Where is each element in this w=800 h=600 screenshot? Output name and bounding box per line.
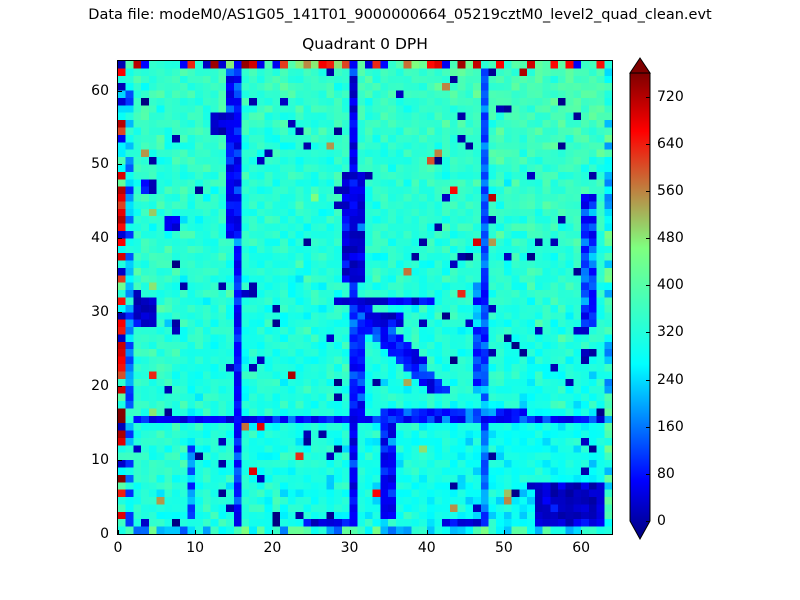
x-tick-mark: [427, 530, 428, 534]
y-tick-label: 20: [69, 378, 109, 394]
x-tick-label: 20: [263, 540, 281, 556]
heatmap-axes: [117, 60, 613, 535]
y-tick-mark: [118, 164, 122, 165]
colorbar-tick-label: 160: [657, 419, 684, 435]
colorbar-tick-label: 400: [657, 277, 684, 293]
colorbar-tick-label: 0: [657, 513, 666, 529]
heatmap-image: [118, 61, 612, 534]
y-tick-label: 40: [69, 230, 109, 246]
y-tick-label: 30: [69, 304, 109, 320]
y-tick-mark: [118, 534, 122, 535]
y-tick-mark: [118, 238, 122, 239]
x-tick-mark: [581, 530, 582, 534]
colorbar: 080160240320400480560640720: [629, 57, 651, 540]
matplotlib-figure: Data file: modeM0/AS1G05_141T01_90000006…: [0, 0, 800, 600]
colorbar-tick-mark: [646, 427, 650, 428]
x-tick-mark: [195, 530, 196, 534]
colorbar-tick-mark: [646, 285, 650, 286]
colorbar-tick-mark: [646, 521, 650, 522]
y-tick-label: 10: [69, 452, 109, 468]
y-tick-mark: [118, 460, 122, 461]
x-tick-label: 50: [495, 540, 513, 556]
colorbar-tick-mark: [646, 380, 650, 381]
x-tick-mark: [272, 530, 273, 534]
colorbar-gradient: [629, 57, 651, 540]
y-tick-mark: [118, 91, 122, 92]
x-tick-mark: [350, 530, 351, 534]
colorbar-tick-mark: [646, 97, 650, 98]
colorbar-tick-label: 560: [657, 183, 684, 199]
colorbar-tick-label: 480: [657, 230, 684, 246]
x-tick-label: 10: [186, 540, 204, 556]
axes-title: Quadrant 0 DPH: [117, 34, 613, 54]
colorbar-tick-mark: [646, 238, 650, 239]
colorbar-tick-label: 320: [657, 324, 684, 340]
y-tick-label: 0: [69, 526, 109, 542]
x-tick-label: 30: [341, 540, 359, 556]
y-tick-mark: [118, 312, 122, 313]
colorbar-tick-mark: [646, 474, 650, 475]
colorbar-tick-mark: [646, 144, 650, 145]
colorbar-tick-mark: [646, 191, 650, 192]
colorbar-tick-label: 240: [657, 372, 684, 388]
x-tick-mark: [504, 530, 505, 534]
figure-suptitle: Data file: modeM0/AS1G05_141T01_90000006…: [0, 6, 800, 24]
x-tick-label: 60: [572, 540, 590, 556]
colorbar-tick-mark: [646, 332, 650, 333]
y-tick-label: 60: [69, 83, 109, 99]
y-tick-mark: [118, 386, 122, 387]
x-tick-label: 0: [114, 540, 123, 556]
y-tick-label: 50: [69, 156, 109, 172]
x-tick-label: 40: [418, 540, 436, 556]
colorbar-tick-label: 640: [657, 136, 684, 152]
colorbar-tick-label: 80: [657, 466, 675, 482]
colorbar-tick-label: 720: [657, 89, 684, 105]
